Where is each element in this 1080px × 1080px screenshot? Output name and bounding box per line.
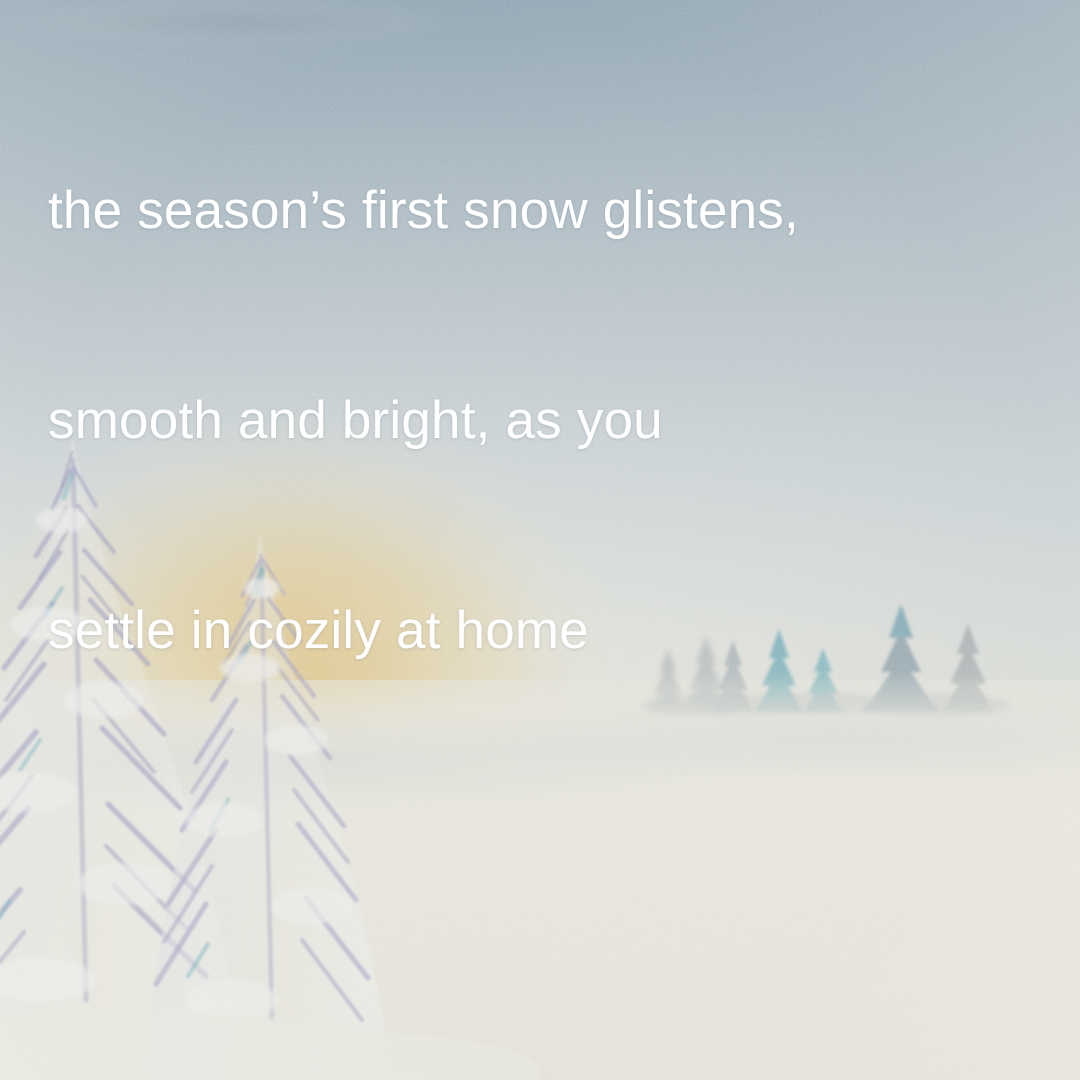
watercolor-artwork: the season’s first snow glistens, smooth… [0, 0, 1080, 1080]
poem-line-3: settle in cozily at home [48, 596, 928, 666]
poem-line-2: smooth and bright, as you [48, 386, 928, 456]
poem-line-1: the season’s first snow glistens, [48, 176, 928, 246]
poem-text-block: the season’s first snow glistens, smooth… [48, 36, 928, 806]
